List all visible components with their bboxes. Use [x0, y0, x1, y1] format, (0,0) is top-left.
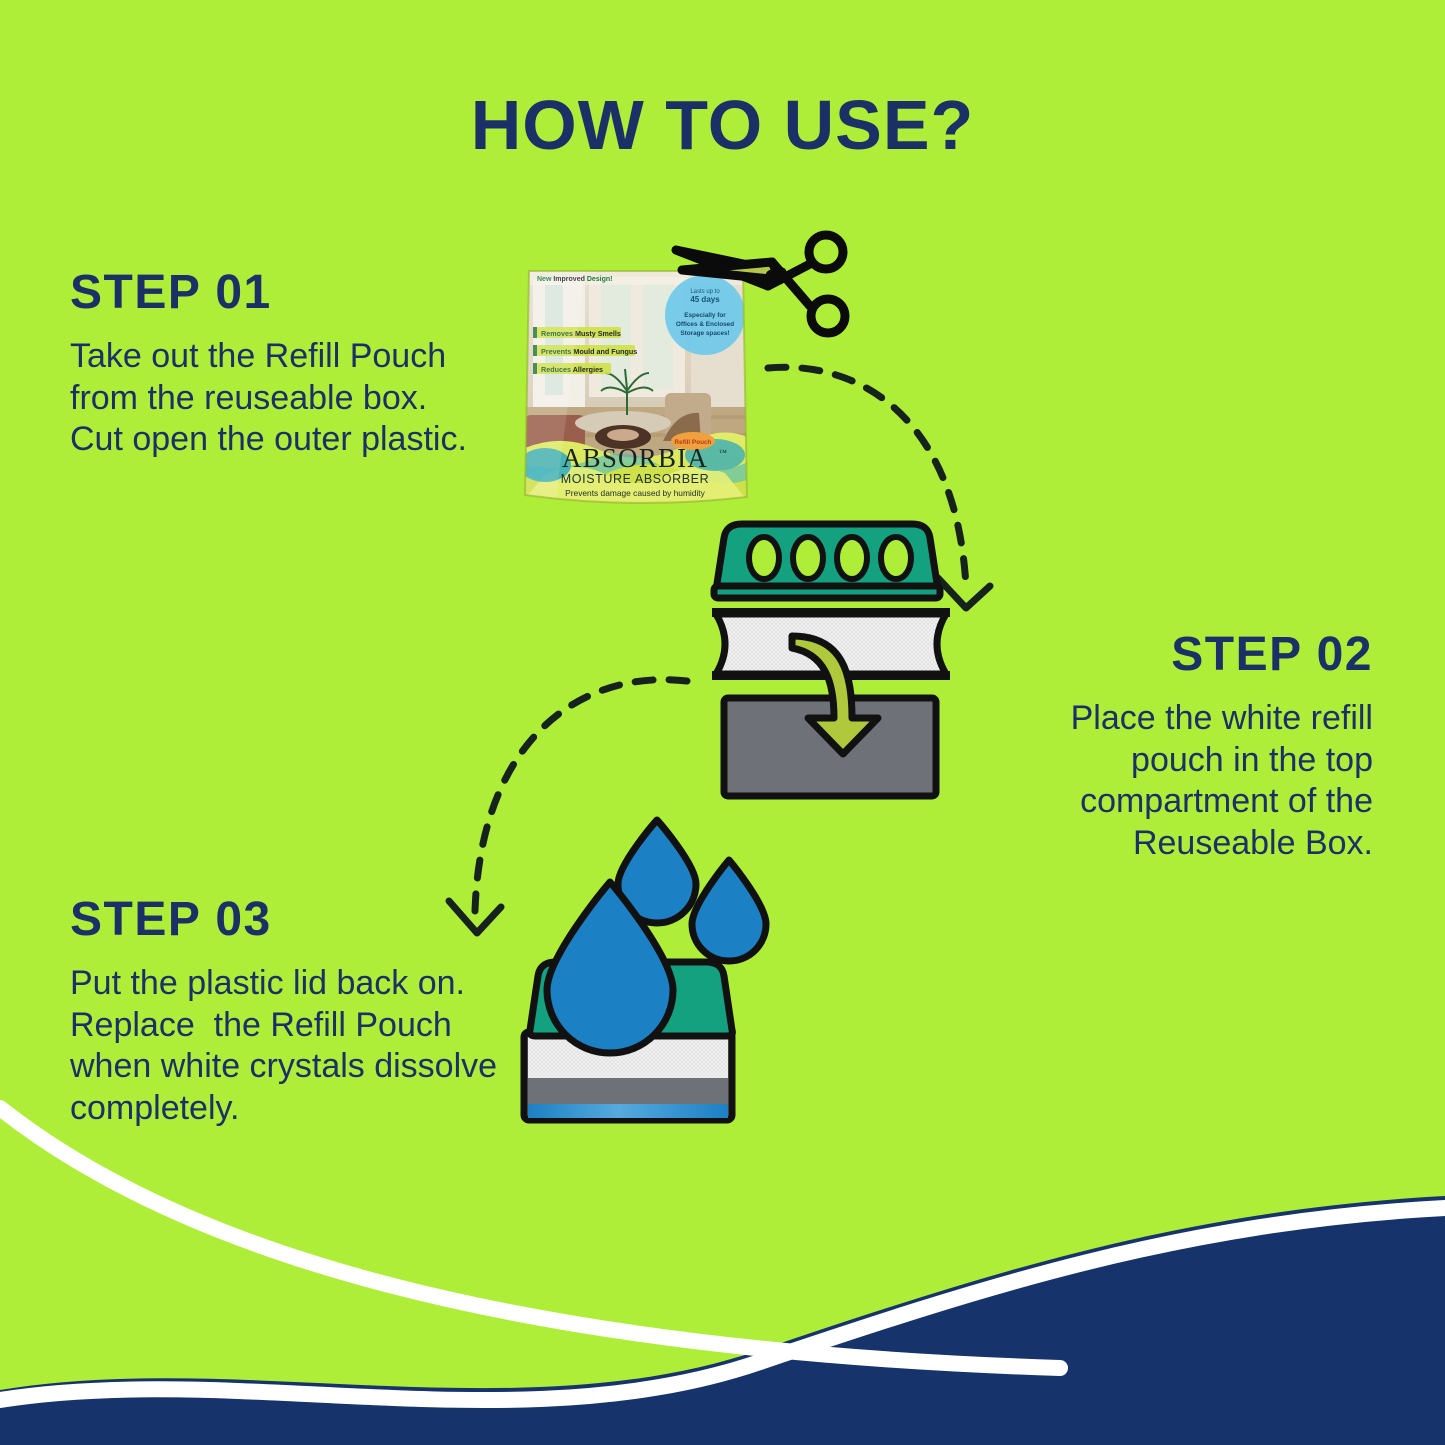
step-01-line-3: Cut open the outer plastic. [70, 419, 540, 460]
step-02-body: Place the white refill pouch in the top … [943, 698, 1373, 864]
scissors-pivot [766, 270, 779, 283]
step-02-line-3: compartment of the [943, 781, 1373, 822]
assembled-box-with-droplets-illustration [500, 808, 770, 1133]
page-title: HOW TO USE? [0, 85, 1445, 165]
pouch-brand-name: ABSORBIA [562, 443, 708, 473]
bottom-wave-decoration [0, 1100, 1445, 1445]
box-lid-icon [714, 524, 940, 598]
step-02-block: STEP 02 Place the white refill pouch in … [943, 630, 1373, 864]
step-02-line-2: pouch in the top [943, 740, 1373, 781]
step-01-line-1: Take out the Refill Pouch [70, 336, 540, 377]
reuseable-box-exploded-illustration [700, 508, 965, 808]
step-02-line-1: Place the white refill [943, 698, 1373, 739]
step-01-line-2: from the reuseable box. [70, 378, 540, 419]
reuseable-box-icon [724, 698, 936, 796]
step-03-line-1: Put the plastic lid back on. [70, 963, 560, 1004]
step-03-line-3: when white crystals dissolve [70, 1046, 560, 1087]
step-01-block: STEP 01 Take out the Refill Pouch from t… [70, 268, 540, 461]
step-02-line-4: Reuseable Box. [943, 823, 1373, 864]
step-02-heading: STEP 02 [943, 630, 1373, 680]
step-03-line-2: Replace the Refill Pouch [70, 1005, 560, 1046]
step-01-body: Take out the Refill Pouch from the reuse… [70, 336, 540, 460]
pouch-trademark: ™ [719, 448, 727, 457]
step-01-heading: STEP 01 [70, 268, 540, 318]
pouch-subtitle: MOISTURE ABSORBER [561, 472, 709, 486]
pouch-tagline: Prevents damage caused by humidity [565, 488, 705, 498]
scissors-icon [660, 210, 860, 350]
how-to-use-infographic: HOW TO USE? STEP 01 Take out the Refill … [0, 0, 1445, 1445]
